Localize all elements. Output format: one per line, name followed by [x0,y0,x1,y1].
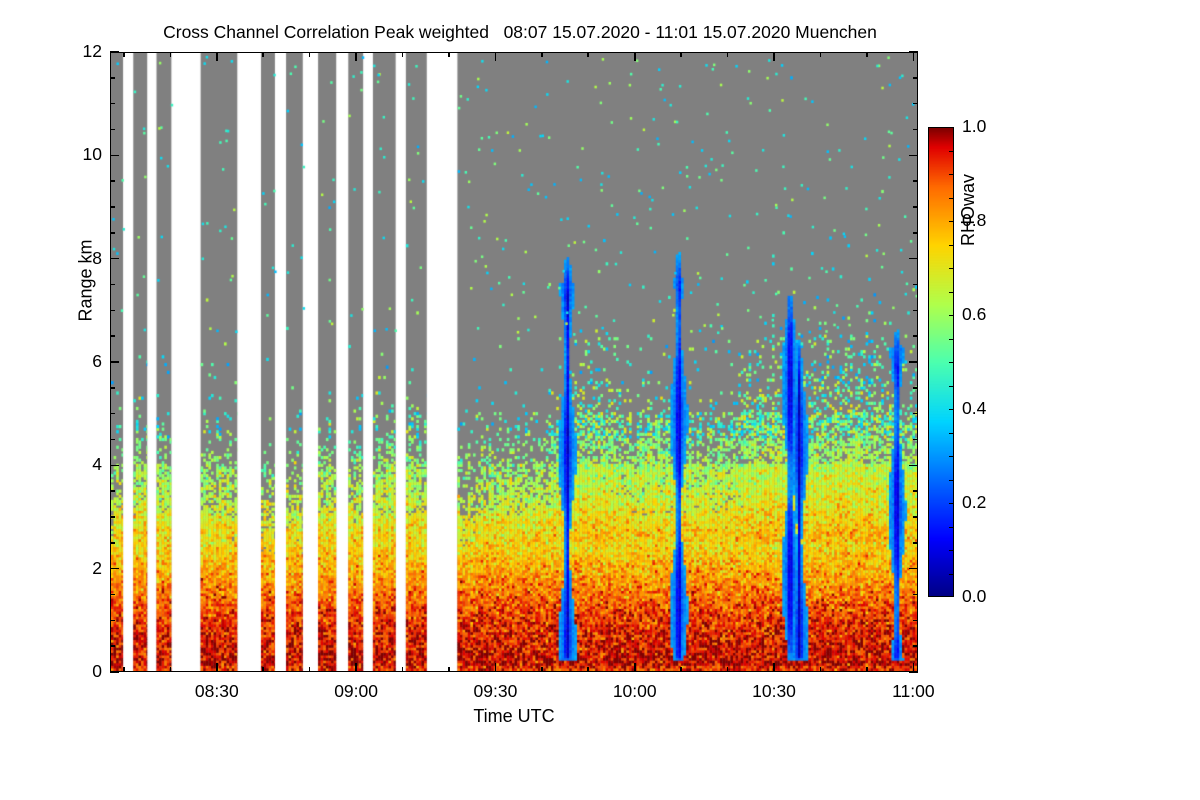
y-axis-minor-tick [110,284,115,286]
y-axis-minor-tick [913,206,918,208]
y-axis-minor-tick [913,645,918,647]
y-axis-tick-mark [909,258,918,260]
y-axis-minor-tick [913,284,918,286]
y-axis-tick-label: 2 [40,558,102,579]
x-axis-tick-mark [216,663,218,672]
x-axis-tick-mark [913,663,915,672]
x-axis-minor-tick [866,667,868,672]
y-axis-tick-label: 6 [40,351,102,372]
x-axis-tick-mark [495,663,497,672]
y-axis-tick-label: 12 [40,41,102,62]
y-axis-tick-mark [110,671,119,673]
colorbar-tick-mark [949,339,954,340]
heatmap-plot-area [110,52,918,672]
x-axis-tick-mark [495,52,497,61]
colorbar-tick-mark [949,151,954,152]
y-axis-minor-tick [110,77,115,79]
x-axis-minor-tick [170,667,172,672]
y-axis-minor-tick [110,490,115,492]
x-axis-tick-label: 10:00 [590,681,680,702]
x-axis-minor-tick [541,52,543,57]
x-axis-minor-tick [587,667,589,672]
y-axis-tick-label: 8 [40,248,102,269]
y-axis-tick-label: 10 [40,144,102,165]
y-axis-minor-tick [110,645,115,647]
x-axis-minor-tick [727,667,729,672]
heatmap-canvas [111,53,918,672]
y-axis-minor-tick [110,594,115,596]
y-axis-tick-mark [110,155,119,157]
colorbar-tick-mark [949,409,954,410]
colorbar-tick-mark [949,292,954,293]
colorbar-tick-mark [949,527,954,528]
y-axis-minor-tick [913,103,918,105]
y-axis-tick-mark [909,465,918,467]
y-axis-minor-tick [913,310,918,312]
colorbar-tick-mark [949,456,954,457]
y-axis-tick-mark [110,568,119,570]
colorbar-tick-mark [949,480,954,481]
x-axis-minor-tick [309,667,311,672]
y-axis-minor-tick [913,490,918,492]
x-axis-minor-tick [448,52,450,57]
x-axis-minor-tick [448,667,450,672]
x-axis-minor-tick [727,52,729,57]
y-axis-minor-tick [913,542,918,544]
y-axis-minor-tick [110,103,115,105]
colorbar-tick-label: 0.0 [962,586,986,607]
y-axis-tick-mark [110,465,119,467]
y-axis-minor-tick [110,439,115,441]
colorbar-tick-mark [949,550,954,551]
y-axis-minor-tick [913,594,918,596]
y-axis-minor-tick [913,413,918,415]
colorbar-tick-mark [949,198,954,199]
x-axis-minor-tick [820,667,822,672]
y-axis-minor-tick [110,542,115,544]
y-axis-minor-tick [110,129,115,131]
colorbar-tick-mark [949,245,954,246]
colorbar-tick-mark [949,386,954,387]
y-axis-tick-mark [909,568,918,570]
colorbar-tick-label: 0.8 [962,210,986,231]
y-axis-minor-tick [110,335,115,337]
y-axis-minor-tick [110,387,115,389]
x-axis-minor-tick [680,52,682,57]
chart-title: Cross Channel Correlation Peak weighted … [0,22,1040,43]
y-axis-minor-tick [913,620,918,622]
y-axis-minor-tick [913,516,918,518]
y-axis-minor-tick [110,180,115,182]
x-axis-tick-mark [773,52,775,61]
y-axis-minor-tick [913,335,918,337]
x-axis-minor-tick [309,52,311,57]
x-axis-tick-label: 09:00 [311,681,401,702]
y-axis-label: Range km [76,191,97,371]
y-axis-minor-tick [913,129,918,131]
y-axis-tick-mark [110,51,119,53]
colorbar-tick-label: 1.0 [962,116,986,137]
colorbar-tick-label: 0.4 [962,398,986,419]
x-axis-minor-tick [262,667,264,672]
y-axis-minor-tick [913,387,918,389]
x-axis-tick-label: 11:00 [868,681,958,702]
colorbar-tick-mark [949,174,954,175]
x-axis-tick-mark [634,663,636,672]
x-axis-tick-mark [355,52,357,61]
y-axis-minor-tick [110,413,115,415]
y-axis-minor-tick [913,439,918,441]
y-axis-tick-label: 0 [40,661,102,682]
x-axis-minor-tick [170,52,172,57]
x-axis-minor-tick [402,52,404,57]
y-axis-tick-mark [909,155,918,157]
colorbar-tick-label: 0.6 [962,304,986,325]
y-axis-tick-label: 4 [40,454,102,475]
colorbar-tick-mark [949,503,954,504]
colorbar-tick-mark [949,574,954,575]
x-axis-minor-tick [402,667,404,672]
x-axis-minor-tick [262,52,264,57]
x-axis-minor-tick [866,52,868,57]
x-axis-tick-label: 08:30 [172,681,262,702]
y-axis-minor-tick [913,77,918,79]
colorbar-tick-mark [949,433,954,434]
y-axis-minor-tick [913,180,918,182]
x-axis-tick-mark [634,52,636,61]
x-axis-tick-mark [216,52,218,61]
x-axis-tick-label: 10:30 [729,681,819,702]
x-axis-tick-mark [355,663,357,672]
x-axis-minor-tick [123,667,125,672]
x-axis-minor-tick [541,667,543,672]
x-axis-minor-tick [820,52,822,57]
y-axis-minor-tick [110,310,115,312]
x-axis-tick-label: 09:30 [450,681,540,702]
colorbar-tick-mark [949,315,954,316]
figure-root: Cross Channel Correlation Peak weighted … [0,0,1200,800]
x-axis-minor-tick [587,52,589,57]
y-axis-tick-mark [110,361,119,363]
y-axis-tick-mark [909,361,918,363]
y-axis-minor-tick [913,232,918,234]
y-axis-tick-mark [110,258,119,260]
x-axis-minor-tick [123,52,125,57]
x-axis-tick-mark [913,52,915,61]
y-axis-minor-tick [110,620,115,622]
colorbar-tick-label: 0.2 [962,492,986,513]
colorbar-tick-mark [949,362,954,363]
x-axis-label: Time UTC [110,706,918,727]
colorbar-tick-mark [949,221,954,222]
y-axis-minor-tick [110,232,115,234]
colorbar-tick-mark [949,268,954,269]
y-axis-minor-tick [110,206,115,208]
x-axis-minor-tick [680,667,682,672]
y-axis-minor-tick [110,516,115,518]
x-axis-tick-mark [773,663,775,672]
